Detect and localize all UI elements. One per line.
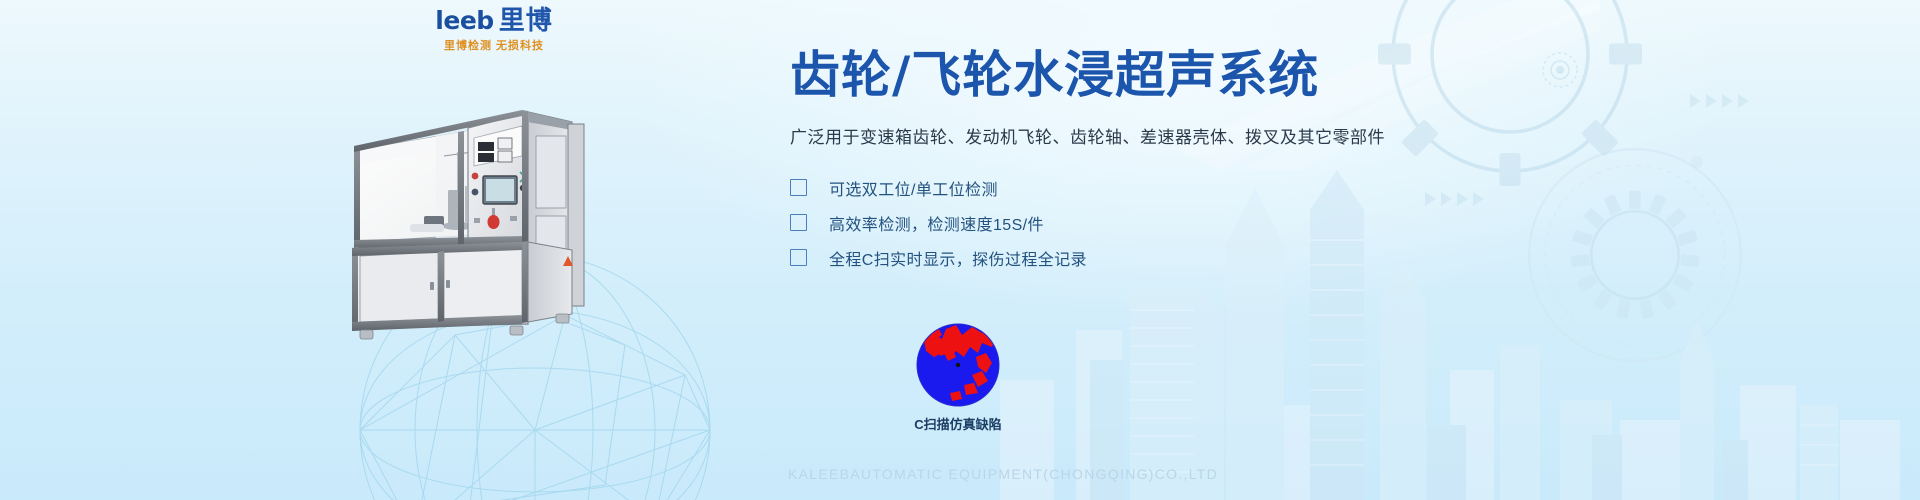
- cscan-image: [916, 323, 1000, 407]
- chevron-arrows-icon: [1690, 92, 1760, 110]
- checkbox-icon: [790, 214, 807, 231]
- ultrasonic-machine-illustration: [340, 100, 680, 345]
- feature-list: 可选双工位/单工位检测 高效率检测，检测速度15S/件 全程C扫实时显示，探伤过…: [790, 170, 1610, 275]
- product-banner: leeb里博 里博检测 无损科技: [0, 0, 1920, 500]
- checkbox-icon: [790, 249, 807, 266]
- feature-item: 高效率检测，检测速度15S/件: [790, 205, 1610, 240]
- feature-label: 高效率检测，检测速度15S/件: [829, 211, 1044, 235]
- dot-icon: [1690, 155, 1704, 169]
- banner-content: 齿轮/飞轮水浸超声系统 广泛用于变速箱齿轮、发动机飞轮、齿轮轴、差速器壳体、拨叉…: [790, 48, 1610, 275]
- feature-label: 可选双工位/单工位检测: [829, 176, 998, 200]
- checkbox-icon: [790, 179, 807, 196]
- logo-wordmark-cn: 里博: [499, 6, 553, 36]
- cscan-sample: C扫描仿真缺陷: [873, 323, 1043, 433]
- logo-tagline: 里博检测 无损科技: [404, 37, 584, 53]
- product-photo: [340, 100, 680, 345]
- logo-wordmark: leeb里博: [404, 8, 584, 35]
- company-logo[interactable]: leeb里博 里博检测 无损科技: [404, 8, 584, 53]
- page-title: 齿轮/飞轮水浸超声系统: [790, 48, 1610, 103]
- company-name: KALEEBAUTOMATIC EQUIPMENT(CHONGQING)CO.,…: [788, 466, 1218, 482]
- feature-item: 全程C扫实时显示，探伤过程全记录: [790, 240, 1610, 275]
- cscan-caption: C扫描仿真缺陷: [873, 414, 1043, 433]
- feature-item: 可选双工位/单工位检测: [790, 170, 1610, 205]
- page-subtitle: 广泛用于变速箱齿轮、发动机飞轮、齿轮轴、差速器壳体、拨叉及其它零部件: [790, 123, 1610, 148]
- logo-wordmark-latin: leeb: [435, 6, 493, 35]
- feature-label: 全程C扫实时显示，探伤过程全记录: [829, 246, 1087, 270]
- cscan-defect-map: [916, 323, 1000, 407]
